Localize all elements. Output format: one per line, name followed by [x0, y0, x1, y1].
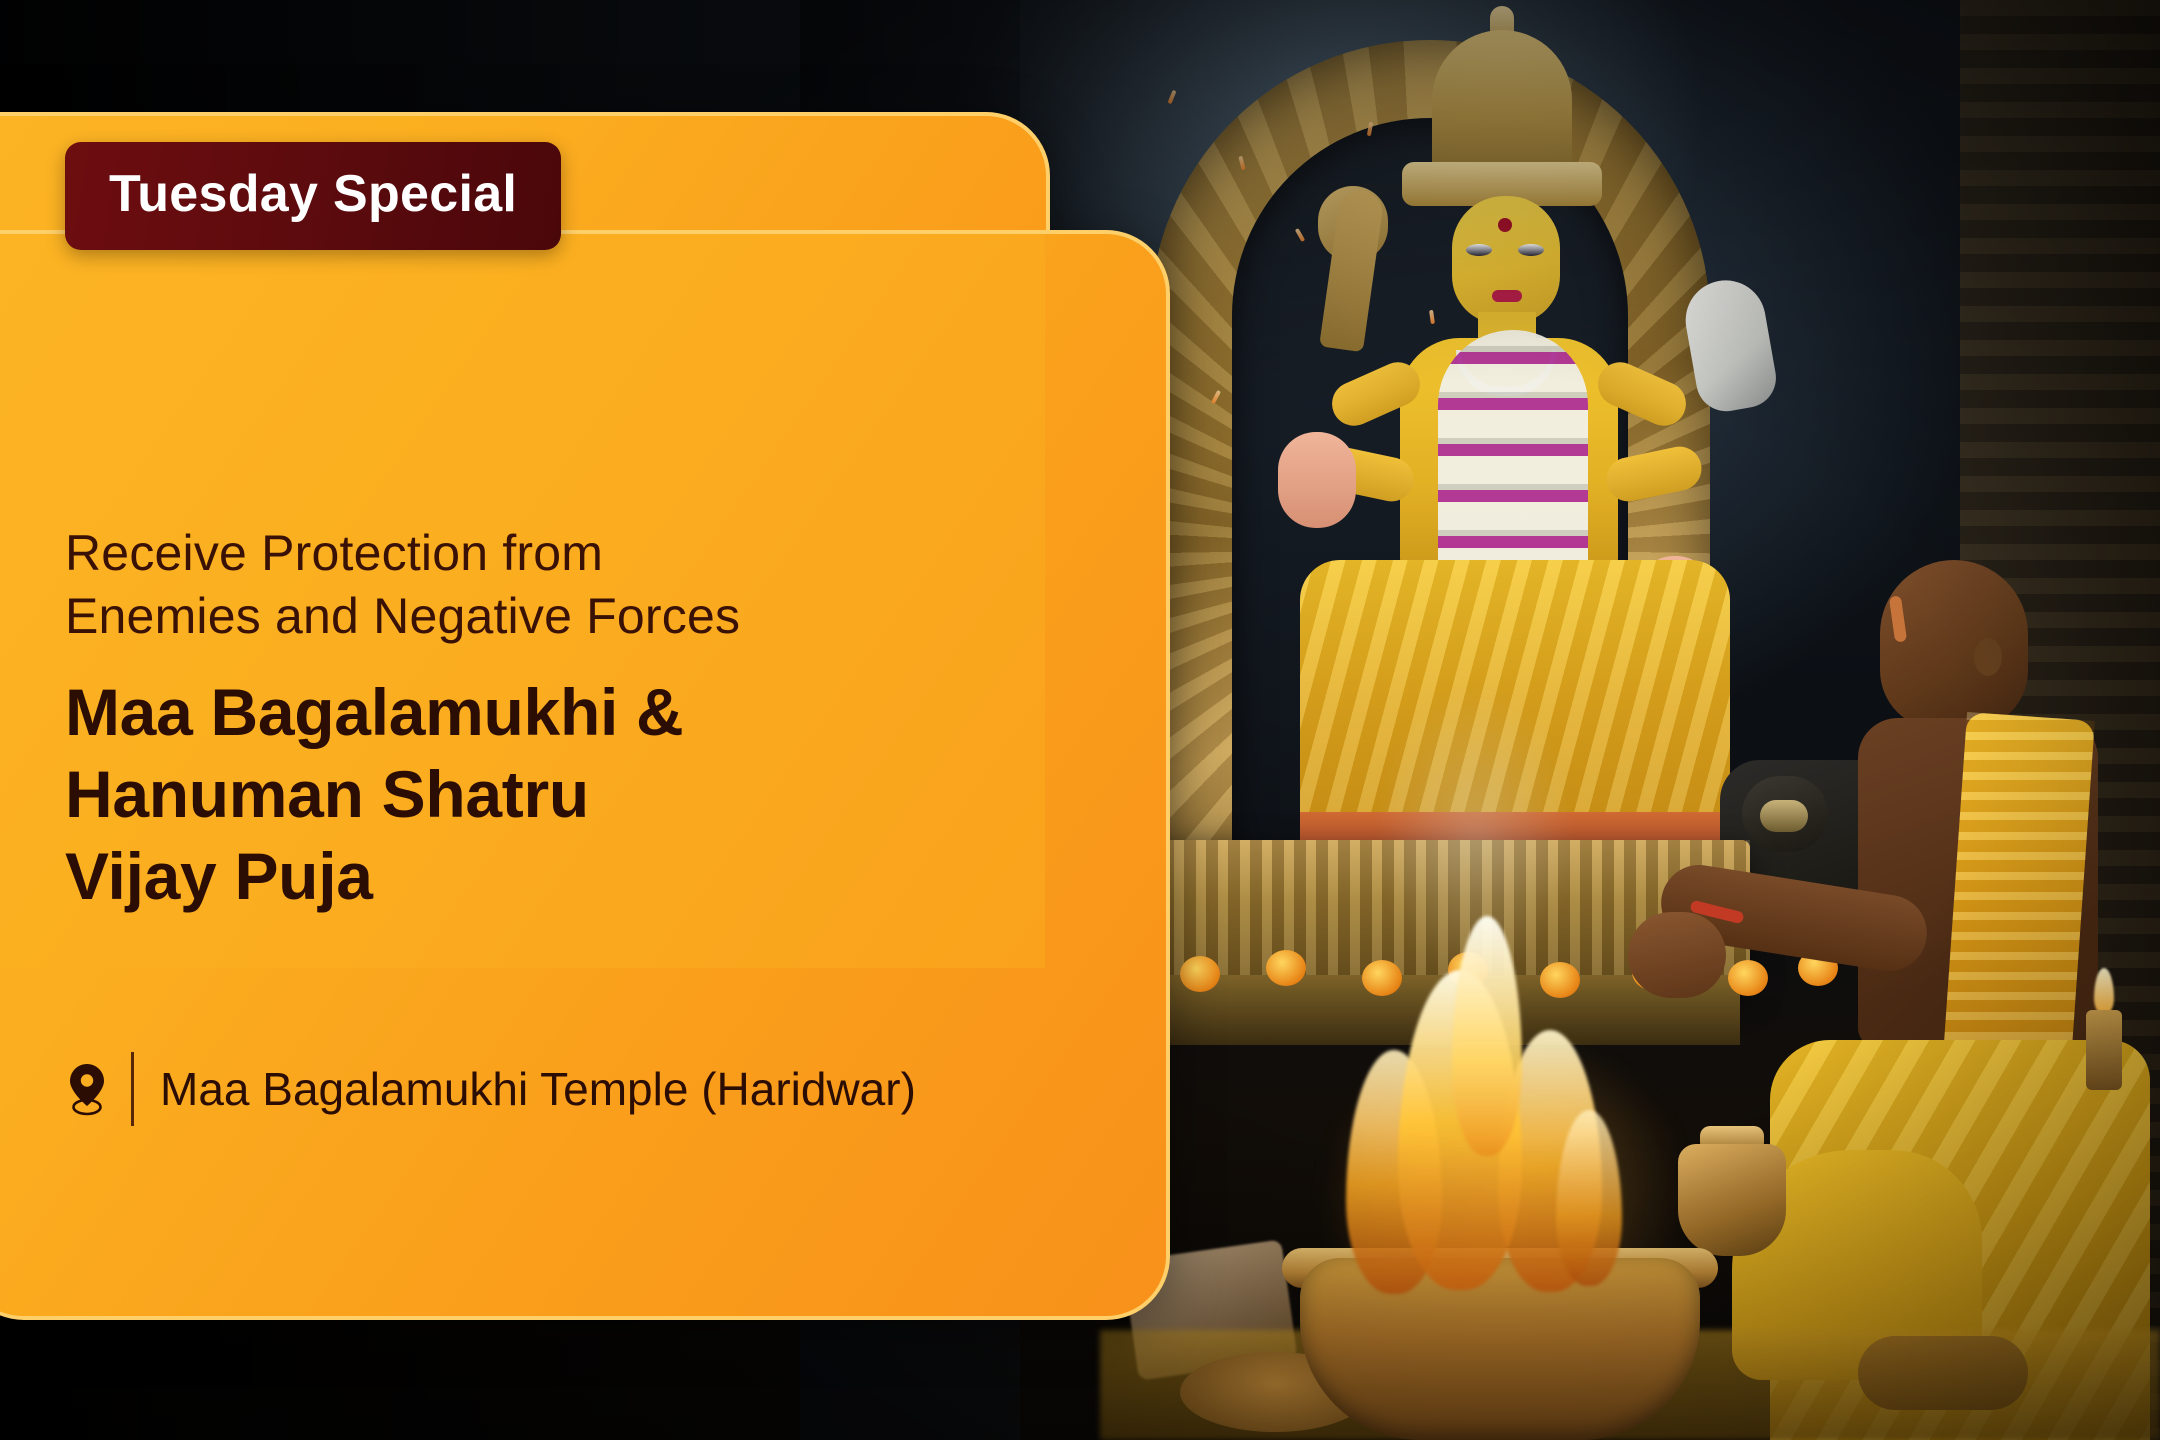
map-pin-icon	[65, 1062, 109, 1116]
subtitle-block: Receive Protection from Enemies and Nega…	[65, 522, 885, 648]
card-content: Tuesday Special Receive Protection from …	[0, 112, 1170, 1320]
tuesday-special-badge: Tuesday Special	[65, 142, 561, 250]
subtitle-line-2: Enemies and Negative Forces	[65, 585, 885, 648]
location-name: Maa Bagalamukhi Temple (Haridwar)	[160, 1066, 916, 1112]
title-line-3: Vijay Puja	[65, 836, 925, 918]
title-line-2: Hanuman Shatru	[65, 754, 925, 836]
location-divider	[131, 1052, 134, 1126]
location-row: Maa Bagalamukhi Temple (Haridwar)	[65, 1052, 916, 1126]
title-line-1: Maa Bagalamukhi &	[65, 672, 925, 754]
offer-card: Tuesday Special Receive Protection from …	[0, 112, 1170, 1320]
badge-label: Tuesday Special	[109, 168, 517, 220]
promotional-banner: Tuesday Special Receive Protection from …	[0, 0, 2160, 1440]
subtitle-line-1: Receive Protection from	[65, 522, 885, 585]
puja-title: Maa Bagalamukhi & Hanuman Shatru Vijay P…	[65, 672, 925, 917]
